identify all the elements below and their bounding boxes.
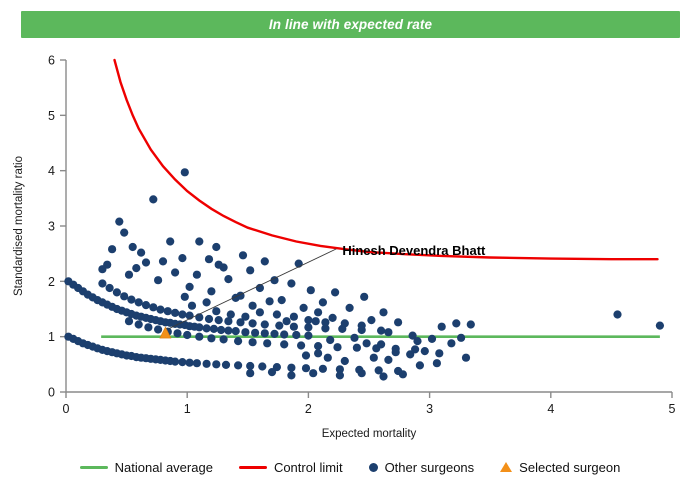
data-point-other-surgeon [258,362,266,370]
data-point-other-surgeon [241,328,249,336]
data-point-other-surgeon [195,333,203,341]
y-tick-label: 0 [48,386,55,400]
data-point-other-surgeon [142,258,150,266]
data-point-other-surgeon [256,308,264,316]
data-point-other-surgeon [98,265,106,273]
data-point-other-surgeon [173,329,181,337]
data-point-other-surgeon [302,351,310,359]
data-point-other-surgeon [142,301,150,309]
data-point-other-surgeon [154,325,162,333]
data-point-other-surgeon [302,364,310,372]
data-point-other-surgeon [249,302,257,310]
funnel-plot-svg: 0123456012345Expected mortalityStandardi… [0,38,700,448]
data-point-other-surgeon [613,310,621,318]
data-point-other-surgeon [321,318,329,326]
status-banner: In line with expected rate [21,11,680,38]
y-tick-label: 1 [48,330,55,344]
data-point-other-surgeon [120,229,128,237]
data-point-other-surgeon [346,304,354,312]
x-tick-label: 1 [184,402,191,416]
legend-item[interactable]: Control limit [239,460,343,475]
data-point-other-surgeon [379,372,387,380]
data-point-other-surgeon [251,329,259,337]
data-point-other-surgeon [234,361,242,369]
x-tick-label: 5 [669,402,676,416]
data-point-other-surgeon [246,266,254,274]
data-point-other-surgeon [183,331,191,339]
data-point-other-surgeon [98,279,106,287]
y-tick-label: 2 [48,275,55,289]
legend-line-icon [239,466,267,469]
chart-area: 0123456012345Expected mortalityStandardi… [0,38,700,448]
data-point-other-surgeon [205,255,213,263]
data-point-other-surgeon [207,287,215,295]
data-point-other-surgeon [115,218,123,226]
data-point-other-surgeon [312,317,320,325]
data-point-other-surgeon [106,284,114,292]
data-point-other-surgeon [275,322,283,330]
data-point-other-surgeon [261,329,269,337]
legend-label: Selected surgeon [519,460,620,475]
status-banner-label: In line with expected rate [269,17,432,32]
y-tick-label: 3 [48,220,55,234]
data-point-other-surgeon [467,320,475,328]
data-point-other-surgeon [367,316,375,324]
data-point-other-surgeon [290,313,298,321]
data-point-other-surgeon [333,343,341,351]
data-point-other-surgeon [350,334,358,342]
data-point-other-surgeon [307,286,315,294]
data-point-other-surgeon [331,288,339,296]
legend-label: Other surgeons [385,460,475,475]
data-point-other-surgeon [452,319,460,327]
data-point-other-surgeon [232,327,240,335]
data-point-other-surgeon [144,323,152,331]
data-point-other-surgeon [399,370,407,378]
data-point-other-surgeon [164,307,172,315]
data-point-other-surgeon [379,308,387,316]
legend-triangle-icon [500,462,512,472]
data-point-other-surgeon [290,323,298,331]
data-point-other-surgeon [300,304,308,312]
data-point-other-surgeon [358,322,366,330]
data-point-other-surgeon [149,195,157,203]
data-point-other-surgeon [188,302,196,310]
data-point-other-surgeon [249,319,257,327]
data-point-other-surgeon [304,332,312,340]
data-point-other-surgeon [193,271,201,279]
data-point-other-surgeon [137,249,145,257]
legend-item[interactable]: Selected surgeon [500,460,620,475]
data-point-other-surgeon [416,361,424,369]
annotation-label: Hinesh Devendra Bhatt [342,243,486,258]
data-point-other-surgeon [125,271,133,279]
data-point-other-surgeon [377,340,385,348]
data-point-other-surgeon [127,296,135,304]
data-point-other-surgeon [132,264,140,272]
data-point-other-surgeon [215,261,223,269]
data-point-other-surgeon [156,306,164,314]
funnel-plot-page: In line with expected rate 0123456012345… [0,0,700,500]
data-point-other-surgeon [319,298,327,306]
data-point-other-surgeon [394,318,402,326]
data-point-other-surgeon [341,319,349,327]
data-point-other-surgeon [125,317,133,325]
data-point-other-surgeon [292,331,300,339]
data-point-other-surgeon [181,293,189,301]
data-point-other-surgeon [227,310,235,318]
legend-label: Control limit [274,460,343,475]
x-tick-label: 0 [63,402,70,416]
data-point-other-surgeon [222,361,230,369]
data-point-other-surgeon [207,334,215,342]
data-point-other-surgeon [195,237,203,245]
data-point-other-surgeon [283,317,291,325]
data-point-other-surgeon [159,257,167,265]
data-point-other-surgeon [212,243,220,251]
y-axis-title: Standardised mortality ratio [13,156,25,296]
data-point-other-surgeon [297,341,305,349]
data-point-other-surgeon [108,245,116,253]
data-point-other-surgeon [171,358,179,366]
legend-line-icon [80,466,108,469]
data-point-other-surgeon [280,340,288,348]
data-point-other-surgeon [171,268,179,276]
data-point-other-surgeon [370,354,378,362]
control-limit-curve [115,60,658,259]
data-point-other-surgeon [304,316,312,324]
data-point-other-surgeon [261,257,269,265]
data-point-other-surgeon [287,371,295,379]
legend-label: National average [115,460,213,475]
data-point-other-surgeon [263,339,271,347]
x-tick-label: 3 [426,402,433,416]
data-point-other-surgeon [278,296,286,304]
data-point-other-surgeon [268,368,276,376]
data-point-other-surgeon [457,334,465,342]
data-point-other-surgeon [309,369,317,377]
data-point-other-surgeon [656,322,664,330]
data-point-other-surgeon [326,336,334,344]
data-point-other-surgeon [360,293,368,301]
data-point-other-surgeon [304,323,312,331]
data-point-other-surgeon [135,298,143,306]
data-point-other-surgeon [462,354,470,362]
data-point-other-surgeon [280,330,288,338]
data-point-other-surgeon [212,360,220,368]
data-point-other-surgeon [384,328,392,336]
y-tick-label: 5 [48,109,55,123]
data-point-other-surgeon [186,359,194,367]
legend-item[interactable]: National average [80,460,213,475]
data-point-other-surgeon [406,350,414,358]
data-point-other-surgeon [433,359,441,367]
data-point-other-surgeon [336,371,344,379]
legend-item[interactable]: Other surgeons [369,460,475,475]
data-point-other-surgeon [266,297,274,305]
data-point-other-surgeon [353,344,361,352]
data-point-other-surgeon [166,237,174,245]
data-point-other-surgeon [239,251,247,259]
data-point-other-surgeon [447,339,455,347]
data-point-other-surgeon [120,292,128,300]
data-point-other-surgeon [435,349,443,357]
x-tick-label: 4 [547,402,554,416]
data-point-other-surgeon [135,320,143,328]
data-point-other-surgeon [392,348,400,356]
data-point-other-surgeon [270,330,278,338]
data-point-other-surgeon [186,283,194,291]
data-point-other-surgeon [217,326,225,334]
data-point-other-surgeon [421,347,429,355]
data-point-other-surgeon [224,327,232,335]
data-point-other-surgeon [178,358,186,366]
data-point-other-surgeon [241,313,249,321]
data-point-other-surgeon [215,316,223,324]
data-point-other-surgeon [129,243,137,251]
data-point-other-surgeon [193,359,201,367]
data-point-other-surgeon [210,325,218,333]
data-point-other-surgeon [319,365,327,373]
data-point-other-surgeon [261,320,269,328]
data-point-other-surgeon [329,314,337,322]
y-tick-label: 6 [48,54,55,68]
data-point-other-surgeon [413,337,421,345]
data-point-other-surgeon [249,338,257,346]
data-point-other-surgeon [220,335,228,343]
data-point-other-surgeon [428,335,436,343]
data-point-other-surgeon [314,342,322,350]
data-point-other-surgeon [113,288,121,296]
data-point-other-surgeon [203,298,211,306]
data-point-other-surgeon [224,275,232,283]
data-point-other-surgeon [149,303,157,311]
data-point-other-surgeon [171,309,179,317]
data-point-other-surgeon [246,369,254,377]
data-point-other-surgeon [324,354,332,362]
data-point-other-surgeon [178,310,186,318]
data-point-other-surgeon [314,308,322,316]
data-point-other-surgeon [154,276,162,284]
data-point-other-surgeon [363,339,371,347]
data-point-other-surgeon [377,327,385,335]
data-point-other-surgeon [181,168,189,176]
data-point-other-surgeon [212,307,220,315]
x-axis-title: Expected mortality [322,428,417,440]
data-point-other-surgeon [341,357,349,365]
data-point-other-surgeon [287,279,295,287]
data-point-other-surgeon [178,254,186,262]
data-point-other-surgeon [203,360,211,368]
data-point-other-surgeon [273,310,281,318]
data-point-other-surgeon [234,337,242,345]
x-tick-label: 2 [305,402,312,416]
data-point-other-surgeon [205,315,213,323]
data-point-other-surgeon [246,362,254,370]
data-point-other-surgeon [384,356,392,364]
chart-legend: National averageControl limitOther surge… [0,452,700,482]
legend-dot-icon [369,463,378,472]
data-point-other-surgeon [314,349,322,357]
data-point-other-surgeon [203,324,211,332]
y-tick-label: 4 [48,164,55,178]
data-point-other-surgeon [438,323,446,331]
data-point-other-surgeon [358,369,366,377]
data-point-other-surgeon [195,323,203,331]
data-point-other-surgeon [287,364,295,372]
